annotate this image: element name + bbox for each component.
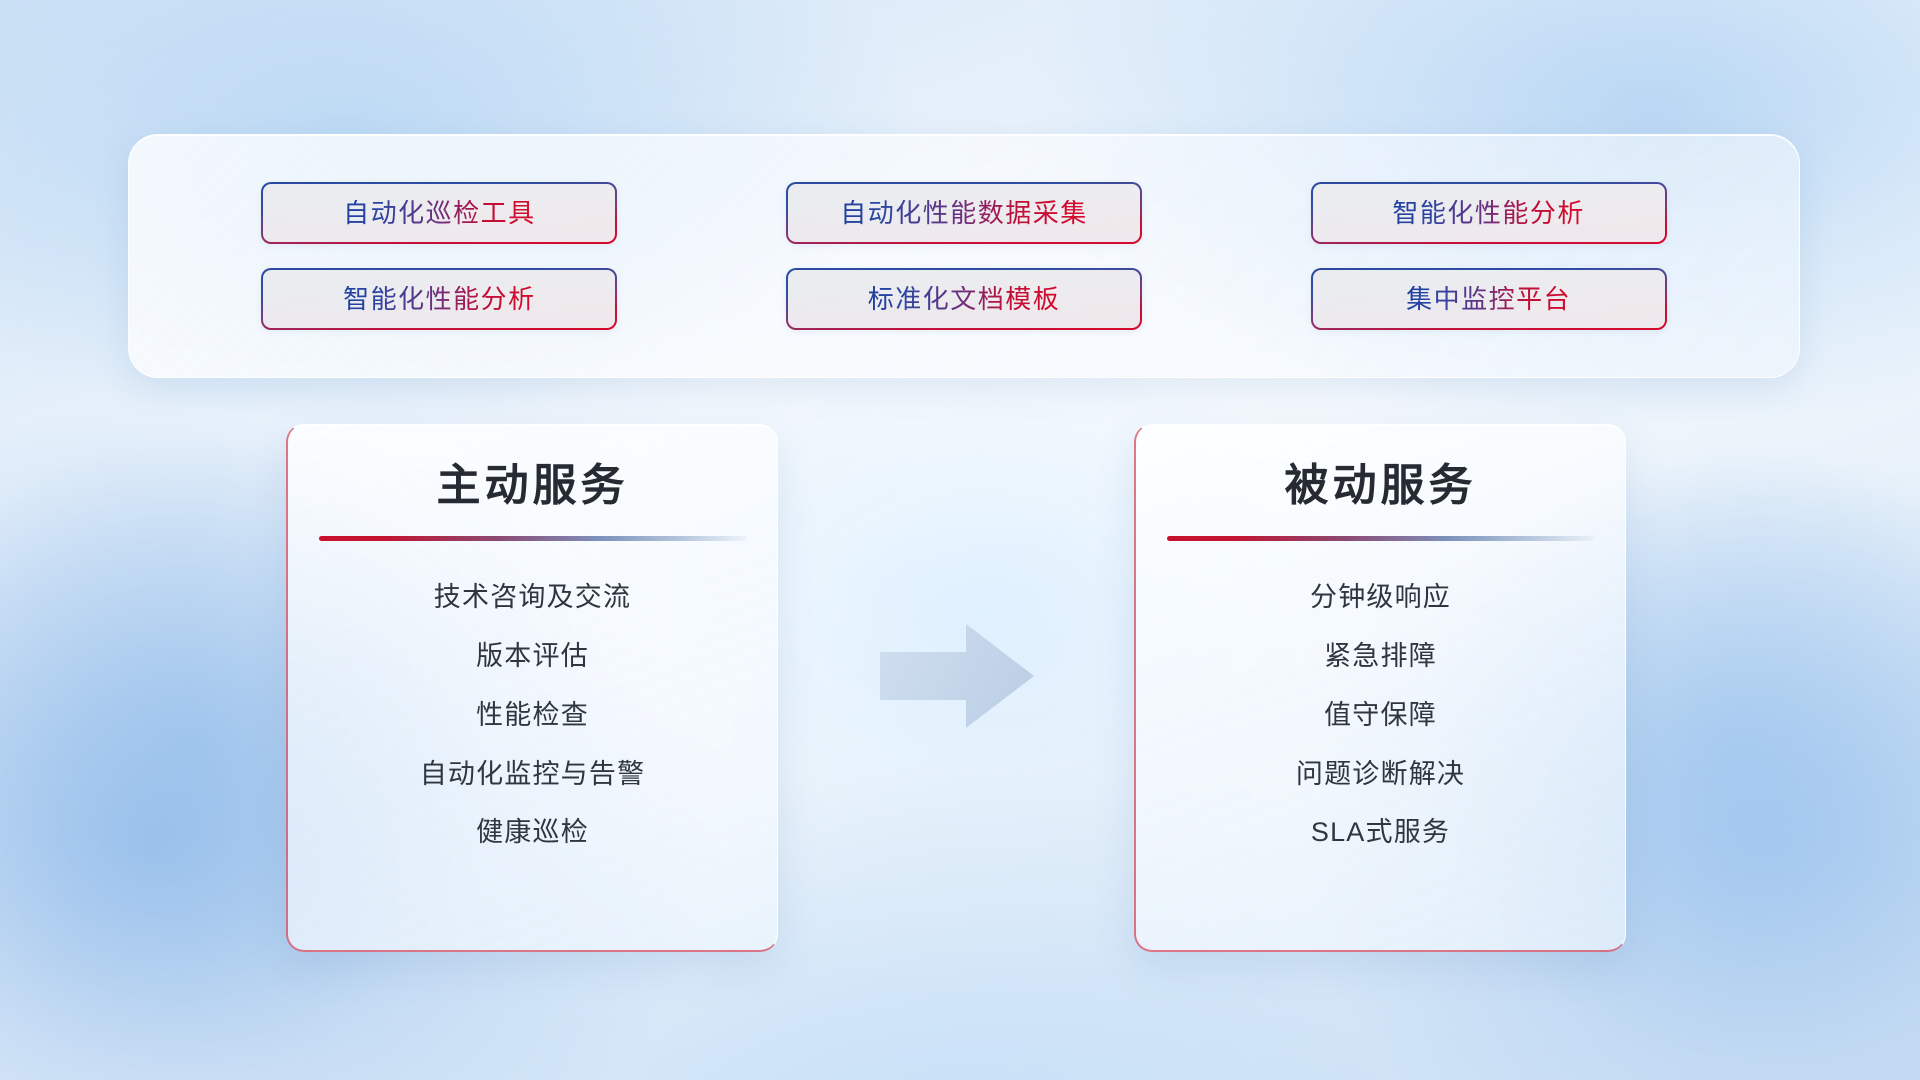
capability-pill-label: 自动化巡检工具	[343, 200, 536, 226]
list-item: 版本评估	[476, 640, 589, 674]
list-item: 健康巡检	[476, 816, 589, 850]
list-item: 紧急排障	[1324, 640, 1437, 674]
capability-pill-centralized-monitoring-platform[interactable]: 集中监控平台	[1311, 268, 1667, 330]
capability-pill-label: 智能化性能分析	[1392, 200, 1585, 226]
list-item: SLA式服务	[1311, 816, 1450, 850]
card-divider	[1167, 536, 1595, 541]
list-item: 性能检查	[476, 699, 589, 733]
list-item: 值守保障	[1324, 699, 1437, 733]
card-reactive-service: 被动服务 分钟级响应 紧急排障 值守保障 问题诊断解决 SLA式服务	[1134, 424, 1626, 952]
capability-pill-label: 集中监控平台	[1406, 286, 1571, 312]
card-title: 被动服务	[1285, 461, 1477, 510]
capability-pill-label: 标准化文档模板	[868, 286, 1061, 312]
list-item: 分钟级响应	[1310, 581, 1451, 615]
card-divider	[319, 536, 747, 541]
list-item: 问题诊断解决	[1296, 758, 1465, 792]
card-title: 主动服务	[437, 461, 629, 510]
list-item: 自动化监控与告警	[420, 758, 646, 792]
capability-pill-automated-performance-data-collection[interactable]: 自动化性能数据采集	[786, 182, 1142, 244]
list-item: 技术咨询及交流	[434, 581, 631, 615]
card-item-list: 分钟级响应 紧急排障 值守保障 问题诊断解决 SLA式服务	[1178, 581, 1583, 850]
card-proactive-service: 主动服务 技术咨询及交流 版本评估 性能检查 自动化监控与告警 健康巡检	[286, 424, 778, 952]
capability-pill-automated-inspection-tool[interactable]: 自动化巡检工具	[261, 182, 617, 244]
capability-row-2: 智能化性能分析 标准化文档模板 集中监控平台	[129, 268, 1799, 330]
capability-row-1: 自动化巡检工具 自动化性能数据采集 智能化性能分析	[129, 182, 1799, 244]
capability-panel: 自动化巡检工具 自动化性能数据采集 智能化性能分析 智能化性能分析 标准化文档模…	[128, 134, 1800, 378]
capability-pill-label: 自动化性能数据采集	[840, 200, 1088, 226]
card-item-list: 技术咨询及交流 版本评估 性能检查 自动化监控与告警 健康巡检	[330, 581, 735, 850]
capability-pill-standardized-document-template[interactable]: 标准化文档模板	[786, 268, 1142, 330]
capability-pill-intelligent-performance-analysis-bottom[interactable]: 智能化性能分析	[261, 268, 617, 330]
capability-pill-label: 智能化性能分析	[343, 286, 536, 312]
capability-pill-intelligent-performance-analysis-top[interactable]: 智能化性能分析	[1311, 182, 1667, 244]
right-arrow-icon	[876, 620, 1038, 732]
